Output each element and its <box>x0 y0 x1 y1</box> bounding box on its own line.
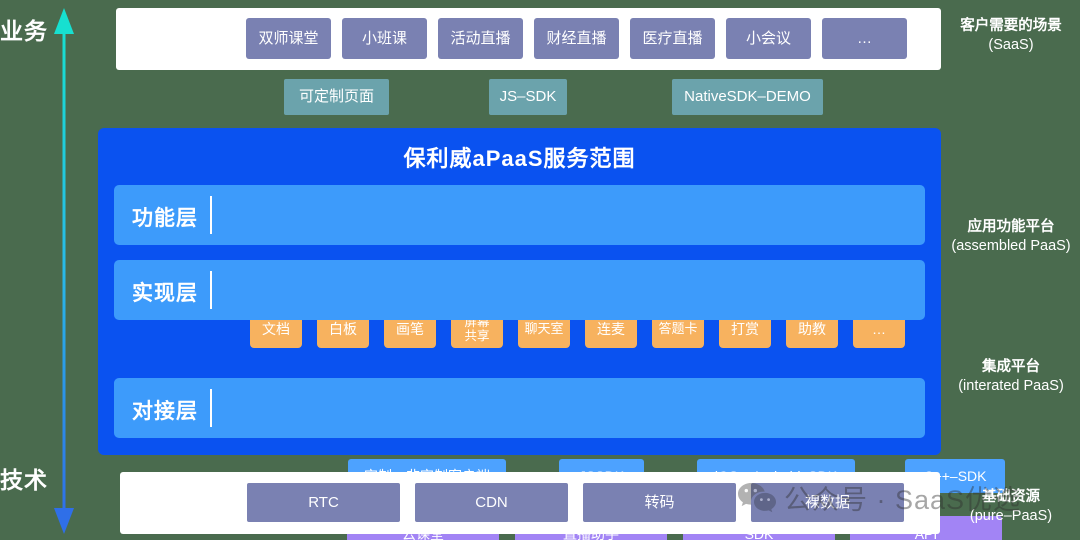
side-label-pure-line1: 基础资源 <box>942 485 1080 506</box>
side-label-assembled-line2: (assembled PaaS) <box>942 238 1080 254</box>
implementation-layer-band: 实现层 <box>114 260 925 320</box>
base-chip-rtc[interactable]: RTC <box>247 483 400 522</box>
side-label-integrated-line2: (interated PaaS) <box>942 378 1080 394</box>
scenario-chip-0[interactable]: 双师课堂 <box>246 18 331 59</box>
side-label-pure-paas: 基础资源 (pure–PaaS) <box>942 485 1080 524</box>
function-layer-band: 功能层 <box>114 185 925 245</box>
function-layer-divider <box>210 196 212 234</box>
implementation-layer-divider <box>210 271 212 309</box>
axis-label-business: 业务 <box>0 12 52 46</box>
sdk-chip-customizable-page[interactable]: 可定制页面 <box>284 79 389 115</box>
scenario-chip-4[interactable]: 医疗直播 <box>630 18 715 59</box>
side-label-integrated-line1: 集成平台 <box>942 355 1080 376</box>
vertical-axis-arrow <box>53 8 75 534</box>
side-label-saas-line2: (SaaS) <box>942 37 1080 53</box>
scenario-chip-2[interactable]: 活动直播 <box>438 18 523 59</box>
base-chip-cdn[interactable]: CDN <box>415 483 568 522</box>
side-label-integrated-paas: 集成平台 (interated PaaS) <box>942 355 1080 394</box>
docking-layer-title: 对接层 <box>132 395 198 425</box>
side-label-saas: 客户需要的场景 (SaaS) <box>942 14 1080 53</box>
side-label-saas-line1: 客户需要的场景 <box>942 14 1080 35</box>
sdk-chip-native-sdk-demo[interactable]: NativeSDK–DEMO <box>672 79 823 115</box>
sdk-chip-js-sdk[interactable]: JS–SDK <box>489 79 567 115</box>
scenario-chip-6[interactable]: … <box>822 18 907 59</box>
side-label-assembled-paas: 应用功能平台 (assembled PaaS) <box>942 215 1080 254</box>
scenario-chip-1[interactable]: 小班课 <box>342 18 427 59</box>
apaas-scope-box: 保利威aPaaS服务范围 功能层 文档 白板 画笔 屏幕 共享 聊天室 连麦 答… <box>98 128 941 455</box>
scenario-chip-5[interactable]: 小会议 <box>726 18 811 59</box>
axis-label-technology: 技术 <box>0 461 52 495</box>
scenarios-panel <box>116 8 941 70</box>
side-label-assembled-line1: 应用功能平台 <box>942 215 1080 236</box>
base-chip-raw-data[interactable]: 裸数据 <box>751 483 904 522</box>
scenario-chip-3[interactable]: 财经直播 <box>534 18 619 59</box>
implementation-layer-title: 实现层 <box>132 277 198 307</box>
diagram-canvas: 业务 技术 双师课堂 小班课 活动直播 财经直播 医疗直播 小会议 … 可定制页… <box>0 0 1080 540</box>
docking-layer-band: 对接层 <box>114 378 925 438</box>
base-chip-transcode[interactable]: 转码 <box>583 483 736 522</box>
apaas-title: 保利威aPaaS服务范围 <box>98 141 941 173</box>
function-layer-title: 功能层 <box>132 202 198 232</box>
side-label-pure-line2: (pure–PaaS) <box>942 508 1080 524</box>
docking-layer-divider <box>210 389 212 427</box>
